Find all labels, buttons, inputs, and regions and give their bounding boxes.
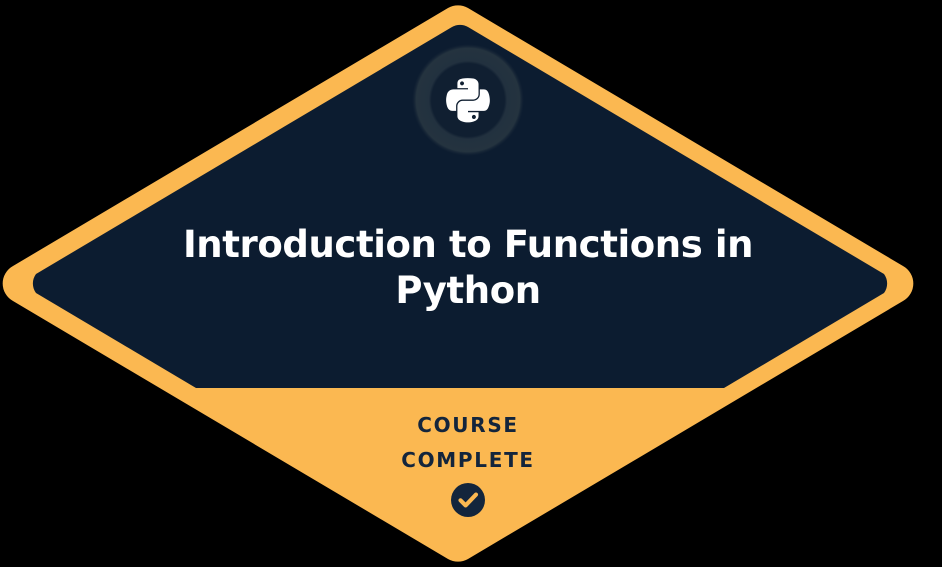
check-circle-icon <box>451 483 485 517</box>
course-completion-badge: Introduction to Functions in Python COUR… <box>0 0 942 567</box>
badge-shape-graphic <box>0 0 942 567</box>
